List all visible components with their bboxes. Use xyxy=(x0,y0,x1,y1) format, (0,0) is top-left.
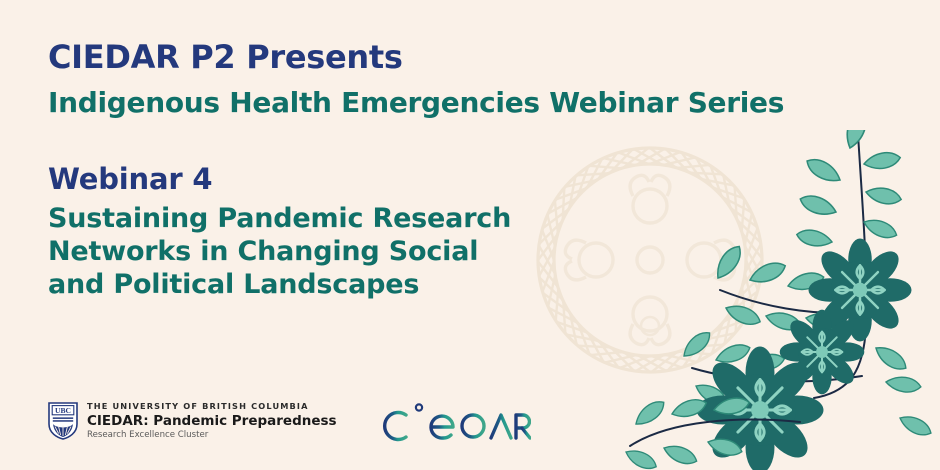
ubc-university-line: THE UNIVERSITY OF BRITISH COLUMBIA xyxy=(87,402,337,410)
ciedar-wordmark-logo xyxy=(381,398,531,444)
webinar-title: Sustaining Pandemic Research Networks in… xyxy=(48,203,511,302)
ubc-unit-line: CIEDAR: Pandemic Preparedness xyxy=(87,415,337,429)
ubc-logo-lockup: UBC THE UNIVERSITY OF BRITISH COLUMBIA C… xyxy=(48,402,337,440)
ciedar-i-dot-icon xyxy=(415,404,421,410)
webinar-title-line-2: Networks in Changing Social xyxy=(48,236,511,269)
ubc-crest-label: UBC xyxy=(55,406,71,415)
webinar-title-line-1: Sustaining Pandemic Research xyxy=(48,203,511,236)
ubc-sub-line: Research Excellence Cluster xyxy=(87,431,337,440)
webinar-number: Webinar 4 xyxy=(48,162,212,196)
ubc-text-lines: THE UNIVERSITY OF BRITISH COLUMBIA CIEDA… xyxy=(87,402,337,439)
flower-bottom xyxy=(697,347,824,470)
presents-line: CIEDAR P2 Presents xyxy=(48,38,403,76)
flower-middle xyxy=(780,310,865,395)
webinar-title-line-3: and Political Landscapes xyxy=(48,269,511,302)
webinar-poster: CIEDAR P2 Presents Indigenous Health Eme… xyxy=(0,0,940,470)
series-line: Indigenous Health Emergencies Webinar Se… xyxy=(48,86,784,119)
flower-top xyxy=(808,238,911,341)
footer-logos: UBC THE UNIVERSITY OF BRITISH COLUMBIA C… xyxy=(48,398,531,444)
ubc-crest-icon: UBC xyxy=(48,402,78,440)
